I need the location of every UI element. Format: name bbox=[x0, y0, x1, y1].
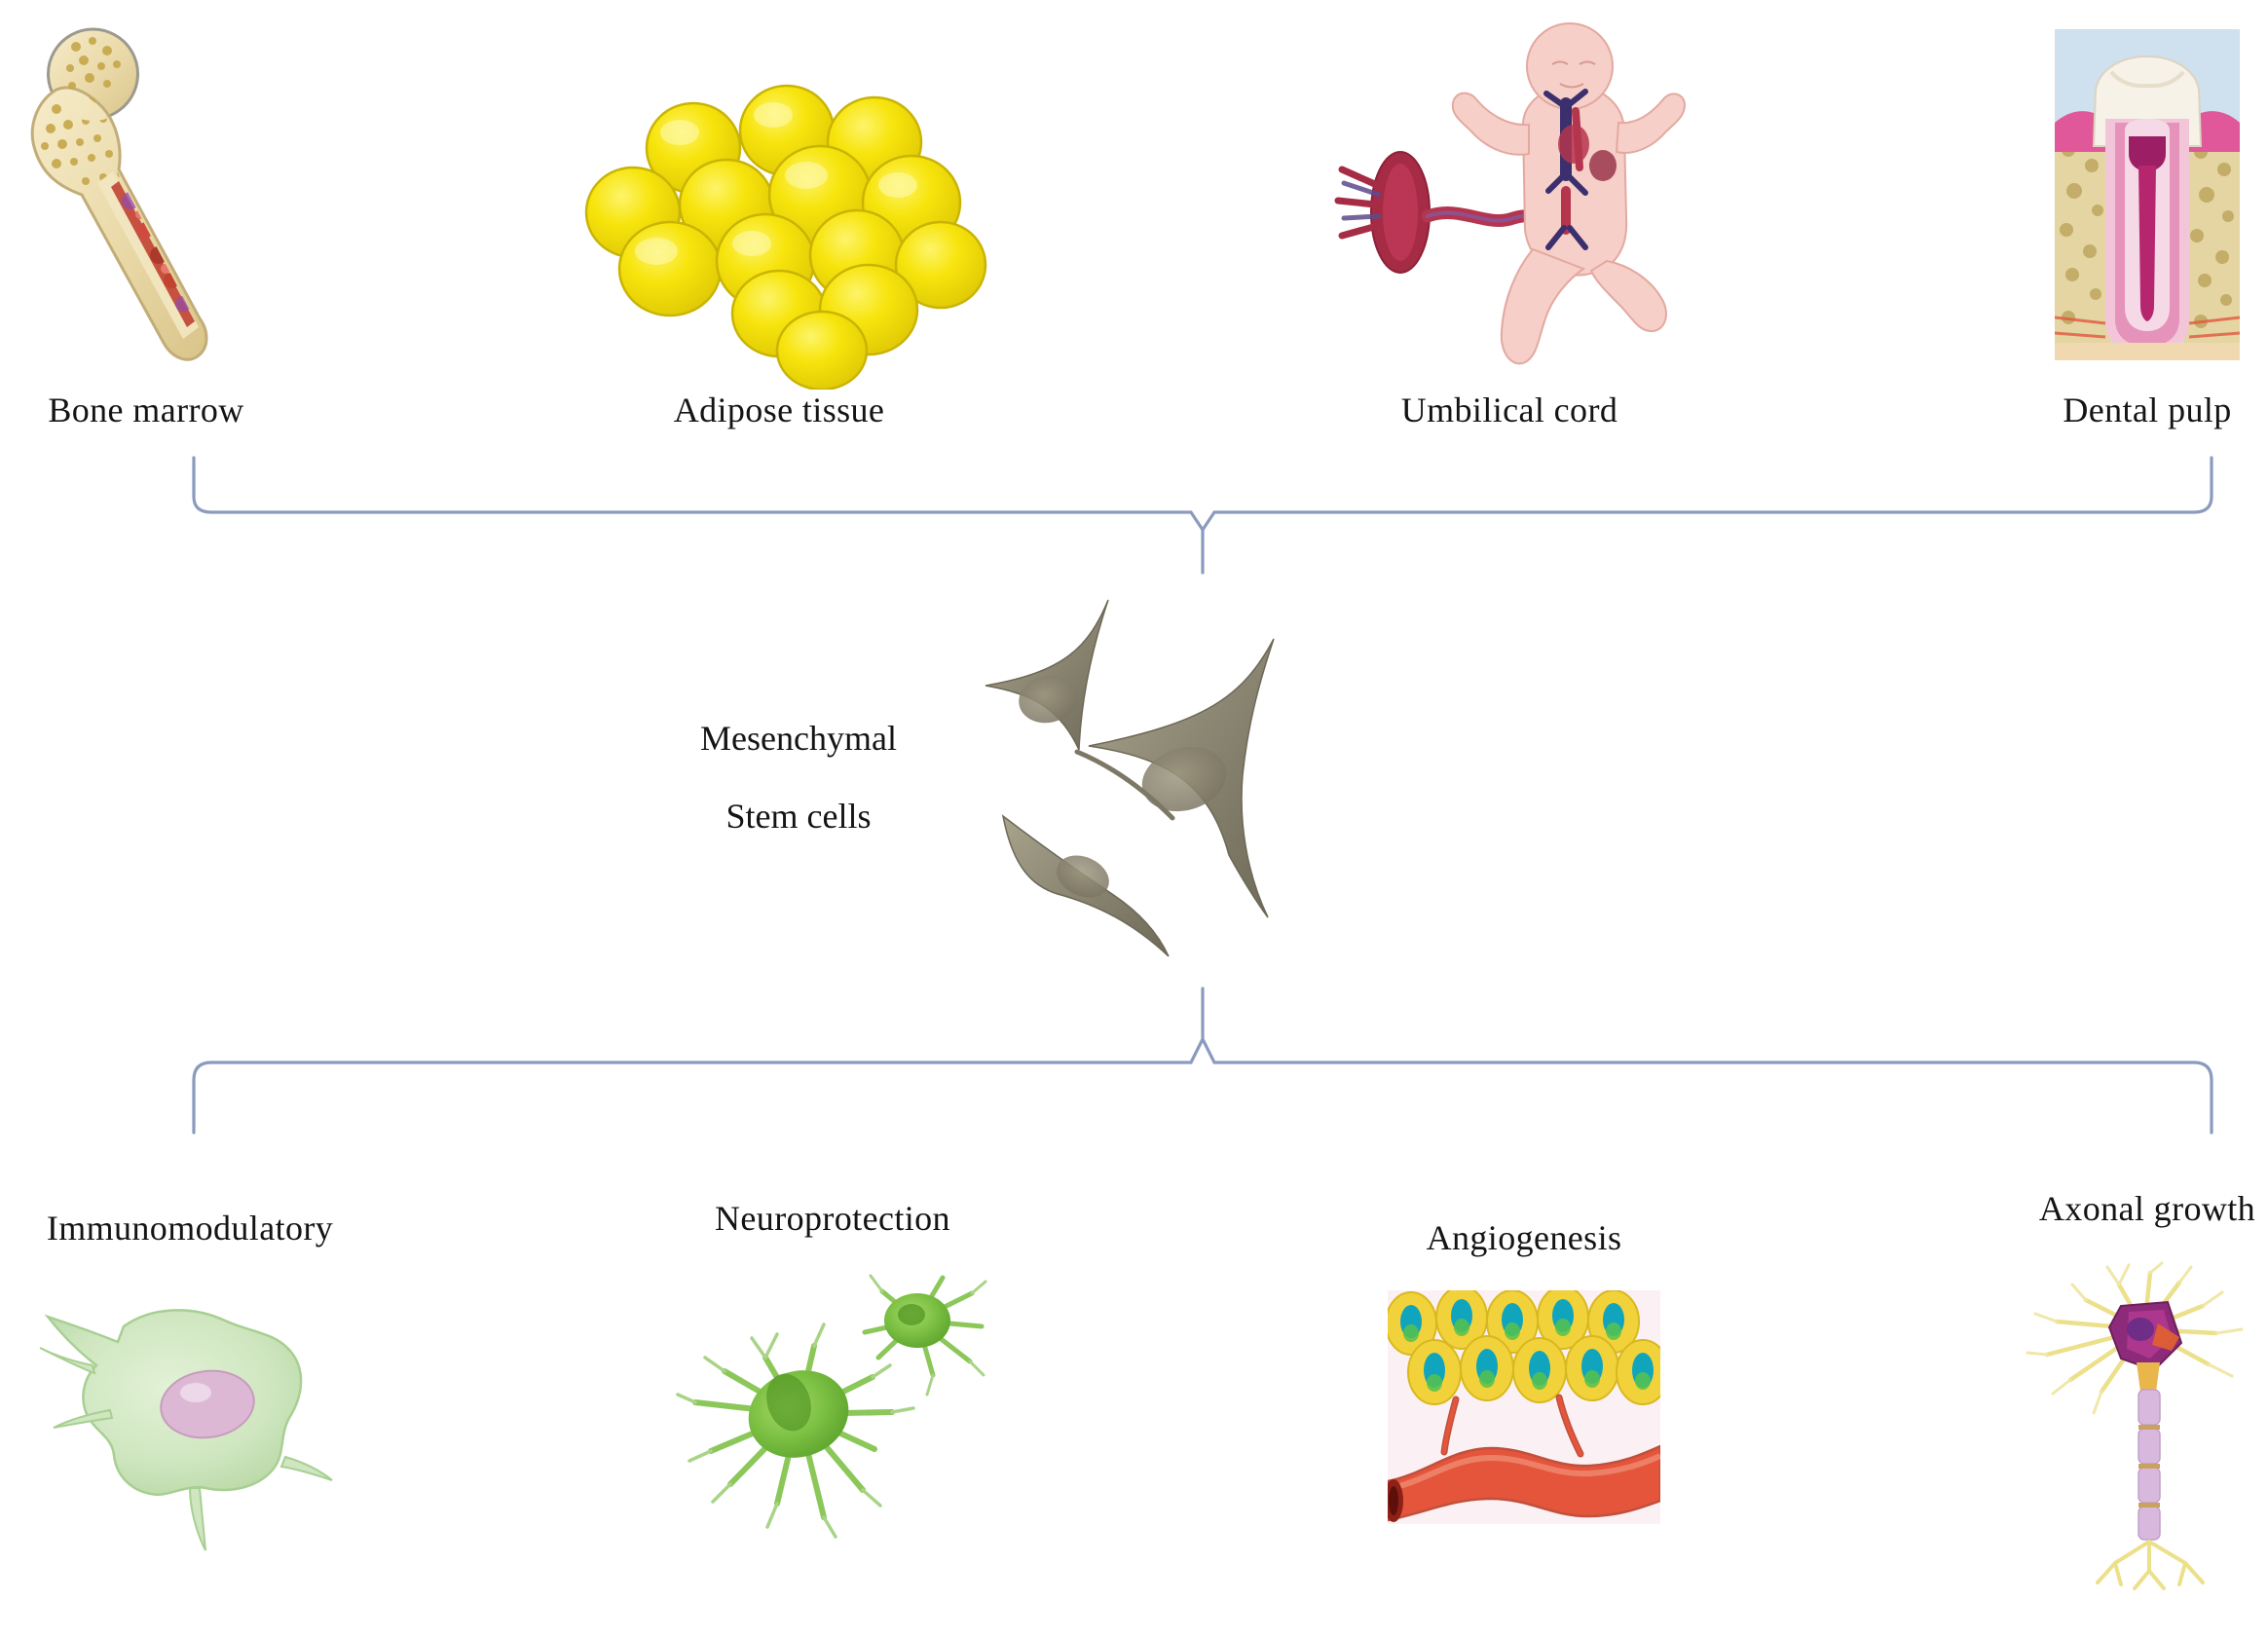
source-node-umbilical-cord: Umbilical cord bbox=[1315, 10, 1704, 390]
source-node-adipose-tissue: Adipose tissue bbox=[565, 58, 993, 390]
function-caption-angiogenesis: Angiogenesis bbox=[1368, 1217, 1680, 1258]
center-label-line1: Mesenchymal bbox=[604, 721, 993, 756]
adipose-tissue-illustration bbox=[565, 58, 993, 390]
function-node-immunomodulatory: Immunomodulatory bbox=[34, 1208, 346, 1558]
brace-center-to-functions bbox=[180, 988, 2225, 1135]
dental-pulp-illustration bbox=[2055, 29, 2240, 360]
function-caption-immunomodulatory: Immunomodulatory bbox=[34, 1208, 346, 1248]
diagram-canvas: Bone marrow bbox=[0, 0, 2268, 1639]
source-caption-dental-pulp: Dental pulp bbox=[2045, 390, 2249, 430]
source-node-bone-marrow: Bone marrow bbox=[0, 0, 292, 390]
neuron-illustration bbox=[2026, 1261, 2268, 1592]
function-node-angiogenesis: Angiogenesis bbox=[1368, 1217, 1680, 1548]
function-node-neuroprotection: Neuroprotection bbox=[672, 1198, 993, 1558]
center-label-line2: Stem cells bbox=[604, 799, 993, 834]
immune-cell-illustration bbox=[34, 1276, 346, 1558]
brace-sources-to-center bbox=[180, 458, 2225, 575]
mesenchymal-stem-cells-illustration bbox=[964, 584, 1315, 964]
function-caption-neuroprotection: Neuroprotection bbox=[672, 1198, 993, 1239]
function-node-axonal-growth: Axonal growth bbox=[2026, 1188, 2268, 1597]
function-caption-axonal-growth: Axonal growth bbox=[2006, 1188, 2268, 1229]
bone-marrow-illustration bbox=[0, 0, 292, 390]
center-node-msc bbox=[964, 584, 1315, 964]
source-caption-adipose-tissue: Adipose tissue bbox=[565, 390, 993, 430]
center-label-mesenchymal-stem-cells: Mesenchymal Stem cells bbox=[604, 721, 993, 834]
astrocyte-illustration bbox=[672, 1256, 993, 1548]
source-node-dental-pulp: Dental pulp bbox=[2055, 29, 2240, 370]
blood-vessel-illustration bbox=[1388, 1290, 1660, 1524]
umbilical-cord-illustration bbox=[1315, 10, 1704, 390]
source-caption-umbilical-cord: Umbilical cord bbox=[1315, 390, 1704, 430]
source-caption-bone-marrow: Bone marrow bbox=[0, 390, 292, 430]
